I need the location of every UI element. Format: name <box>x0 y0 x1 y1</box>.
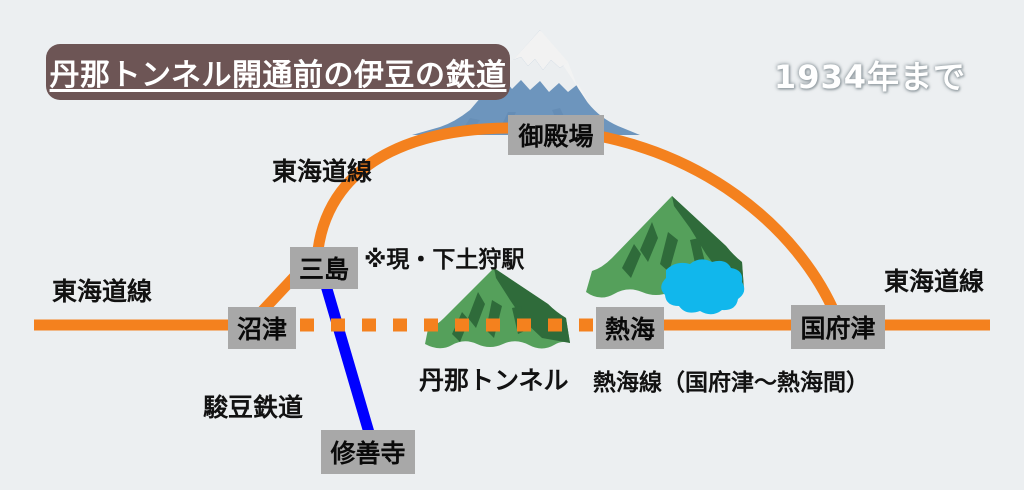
station-shuzenji[interactable]: 修善寺 <box>321 430 415 474</box>
label-tanna-tunnel: 丹那トンネル <box>419 361 569 397</box>
station-label: 熱海 <box>605 310 655 346</box>
label-sunzu-railway: 駿豆鉄道 <box>203 388 303 424</box>
station-label: 沼津 <box>237 310 287 346</box>
year-caption: 1934年まで <box>774 52 966 98</box>
station-label: 三島 <box>299 250 349 286</box>
label-tokaido-line-right: 東海道線 <box>884 262 984 298</box>
map-canvas: 丹那トンネル開通前の伊豆の鉄道 1934年まで 御殿場 三島 沼津 熱海 国府津… <box>0 0 1024 490</box>
label-atami-line: 熱海線（国府津〜熱海間） <box>593 363 869 397</box>
station-label: 御殿場 <box>518 117 593 153</box>
label-tokaido-line-arc: 東海道線 <box>272 152 372 188</box>
station-numazu[interactable]: 沼津 <box>228 307 296 349</box>
station-mishima[interactable]: 三島 <box>290 247 358 289</box>
station-label: 国府津 <box>800 309 875 345</box>
label-shimotogari-note: ※現・下土狩駅 <box>364 240 524 274</box>
station-kozu[interactable]: 国府津 <box>791 305 885 349</box>
label-tokaido-line-left: 東海道線 <box>52 272 152 308</box>
station-label: 修善寺 <box>330 434 405 470</box>
station-gotemba[interactable]: 御殿場 <box>508 115 604 155</box>
page-title: 丹那トンネル開通前の伊豆の鉄道 <box>50 50 507 94</box>
title-banner: 丹那トンネル開通前の伊豆の鉄道 <box>46 44 510 100</box>
station-atami[interactable]: 熱海 <box>596 307 664 349</box>
